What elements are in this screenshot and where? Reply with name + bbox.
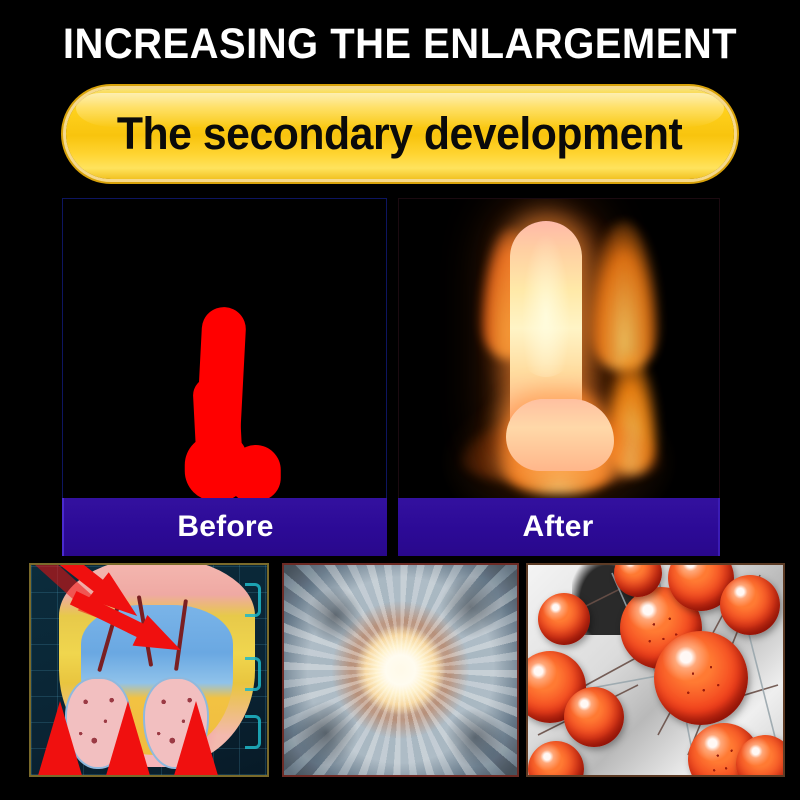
red-silhouette-before-image [62, 198, 387, 498]
glowing-base-part [506, 399, 614, 471]
flame-background [399, 199, 719, 498]
page-title: INCREASING THE ENLARGEMENT [28, 21, 772, 67]
subtitle-banner[interactable]: The secondary development [66, 89, 734, 179]
thumbnail-anatomy-cross-section[interactable] [29, 563, 269, 777]
comparison-label-before: Before [62, 498, 387, 556]
molecule-sphere [564, 687, 624, 747]
before-after-comparison: Before After [0, 198, 800, 556]
molecule-spheres-image [528, 565, 783, 775]
microscope-tissue-image [284, 565, 517, 775]
glowing-flame-after-image [398, 198, 720, 498]
anatomy-grid-background [31, 565, 267, 775]
glowing-body-shape [500, 221, 618, 471]
thumbnail-molecule-spheres[interactable] [526, 563, 785, 777]
thumbnail-row [0, 563, 800, 779]
molecule-sphere [720, 575, 780, 635]
hud-bracket-icon [245, 583, 261, 617]
silhouette-bulb-part [230, 445, 280, 498]
molecule-sphere [654, 631, 748, 725]
comparison-label-after: After [398, 498, 720, 556]
red-silhouette-shape [182, 307, 278, 498]
subtitle-banner-label: The secondary development [117, 110, 682, 158]
comparison-panel-before[interactable]: Before [62, 198, 387, 556]
promo-poster: INCREASING THE ENLARGEMENT The secondary… [0, 0, 800, 800]
comparison-panel-after[interactable]: After [398, 198, 720, 556]
hud-bracket-icon [245, 715, 261, 749]
hud-bracket-icon [245, 657, 261, 691]
thumbnail-microscope-tissue[interactable] [282, 563, 519, 777]
molecule-sphere [538, 593, 590, 645]
